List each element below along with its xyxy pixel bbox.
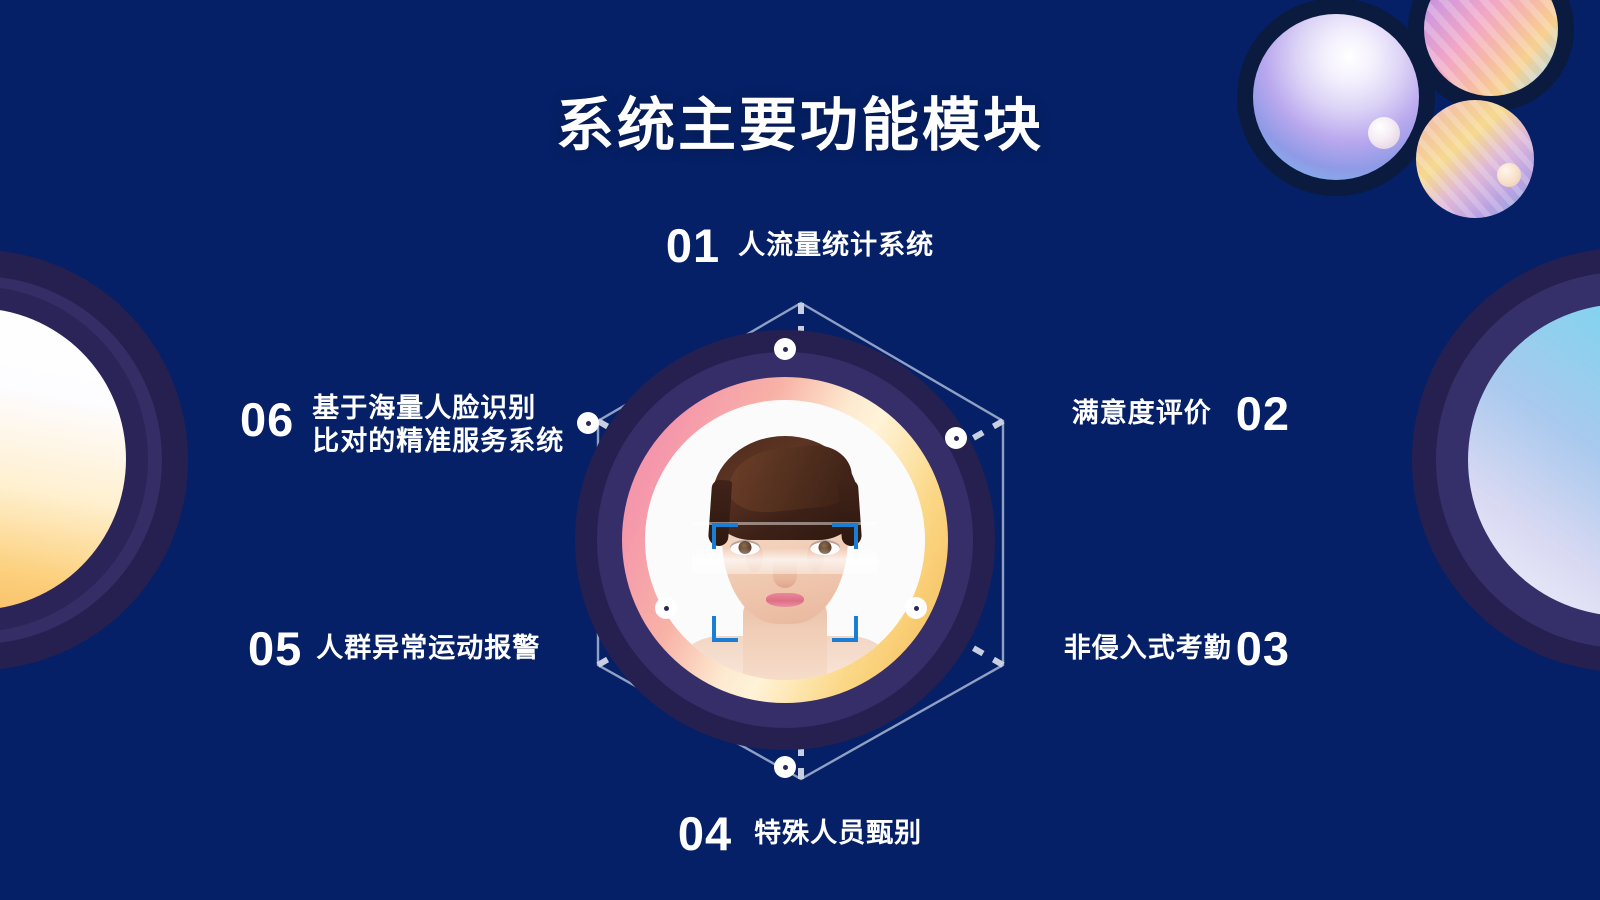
module-label-01[interactable]: 01 人流量统计系统 <box>0 222 1600 269</box>
node-dot-04[interactable] <box>774 756 796 778</box>
moon-small-icon <box>1497 163 1521 187</box>
module-text-06-line2: 比对的精准服务系统 <box>312 426 564 456</box>
module-text-06: 基于海量人脸识别 比对的精准服务系统 <box>312 392 564 458</box>
left-gold-ring-core <box>0 308 126 610</box>
module-number-05: 05 <box>248 625 302 672</box>
module-text-04: 特殊人员甄别 <box>754 818 922 850</box>
module-text-05: 人群异常运动报警 <box>316 633 540 665</box>
scan-band <box>692 548 878 574</box>
node-dot-03[interactable] <box>905 597 927 619</box>
module-number-03: 03 <box>1236 625 1290 672</box>
detection-bracket-bottom-right-icon <box>832 616 858 642</box>
slide-root: 系统主要功能模块 <box>0 0 1600 900</box>
module-label-03[interactable]: 非侵入式考勤 03 <box>1064 625 1290 672</box>
center-graphic <box>575 330 995 750</box>
detection-bracket-top-right-icon <box>832 523 858 549</box>
module-label-02[interactable]: 满意度评价 02 <box>1072 390 1290 437</box>
right-ring-gap <box>1448 284 1600 636</box>
module-label-05[interactable]: 05 人群异常运动报警 <box>248 625 540 672</box>
module-label-06[interactable]: 06 基于海量人脸识别 比对的精准服务系统 <box>240 392 564 458</box>
module-label-04[interactable]: 04 特殊人员甄别 <box>0 810 1600 857</box>
module-number-01: 01 <box>666 222 720 269</box>
node-dot-01[interactable] <box>774 338 796 360</box>
left-ring-outer <box>0 250 188 670</box>
node-dot-02[interactable] <box>945 427 967 449</box>
portrait-face-icon <box>692 430 878 680</box>
right-ring-outer <box>1412 248 1600 672</box>
module-text-03: 非侵入式考勤 <box>1064 633 1232 665</box>
portrait-mouth <box>766 593 804 607</box>
page-title: 系统主要功能模块 <box>0 78 1600 162</box>
right-cyan-ring-core <box>1468 304 1600 616</box>
module-number-02: 02 <box>1236 390 1290 437</box>
detection-bracket-bottom-left-icon <box>712 616 738 642</box>
module-text-01: 人流量统计系统 <box>738 230 934 262</box>
portrait-hair-sweep <box>725 442 855 517</box>
module-text-02: 满意度评价 <box>1072 398 1212 430</box>
portrait-circle <box>645 400 925 680</box>
node-dot-05[interactable] <box>655 597 677 619</box>
node-dot-06[interactable] <box>577 412 599 434</box>
detection-bracket-top-left-icon <box>712 523 738 549</box>
left-ring-gap <box>0 286 148 632</box>
module-number-06: 06 <box>240 396 294 443</box>
module-text-06-line1: 基于海量人脸识别 <box>312 393 536 423</box>
module-number-04: 04 <box>678 810 732 857</box>
